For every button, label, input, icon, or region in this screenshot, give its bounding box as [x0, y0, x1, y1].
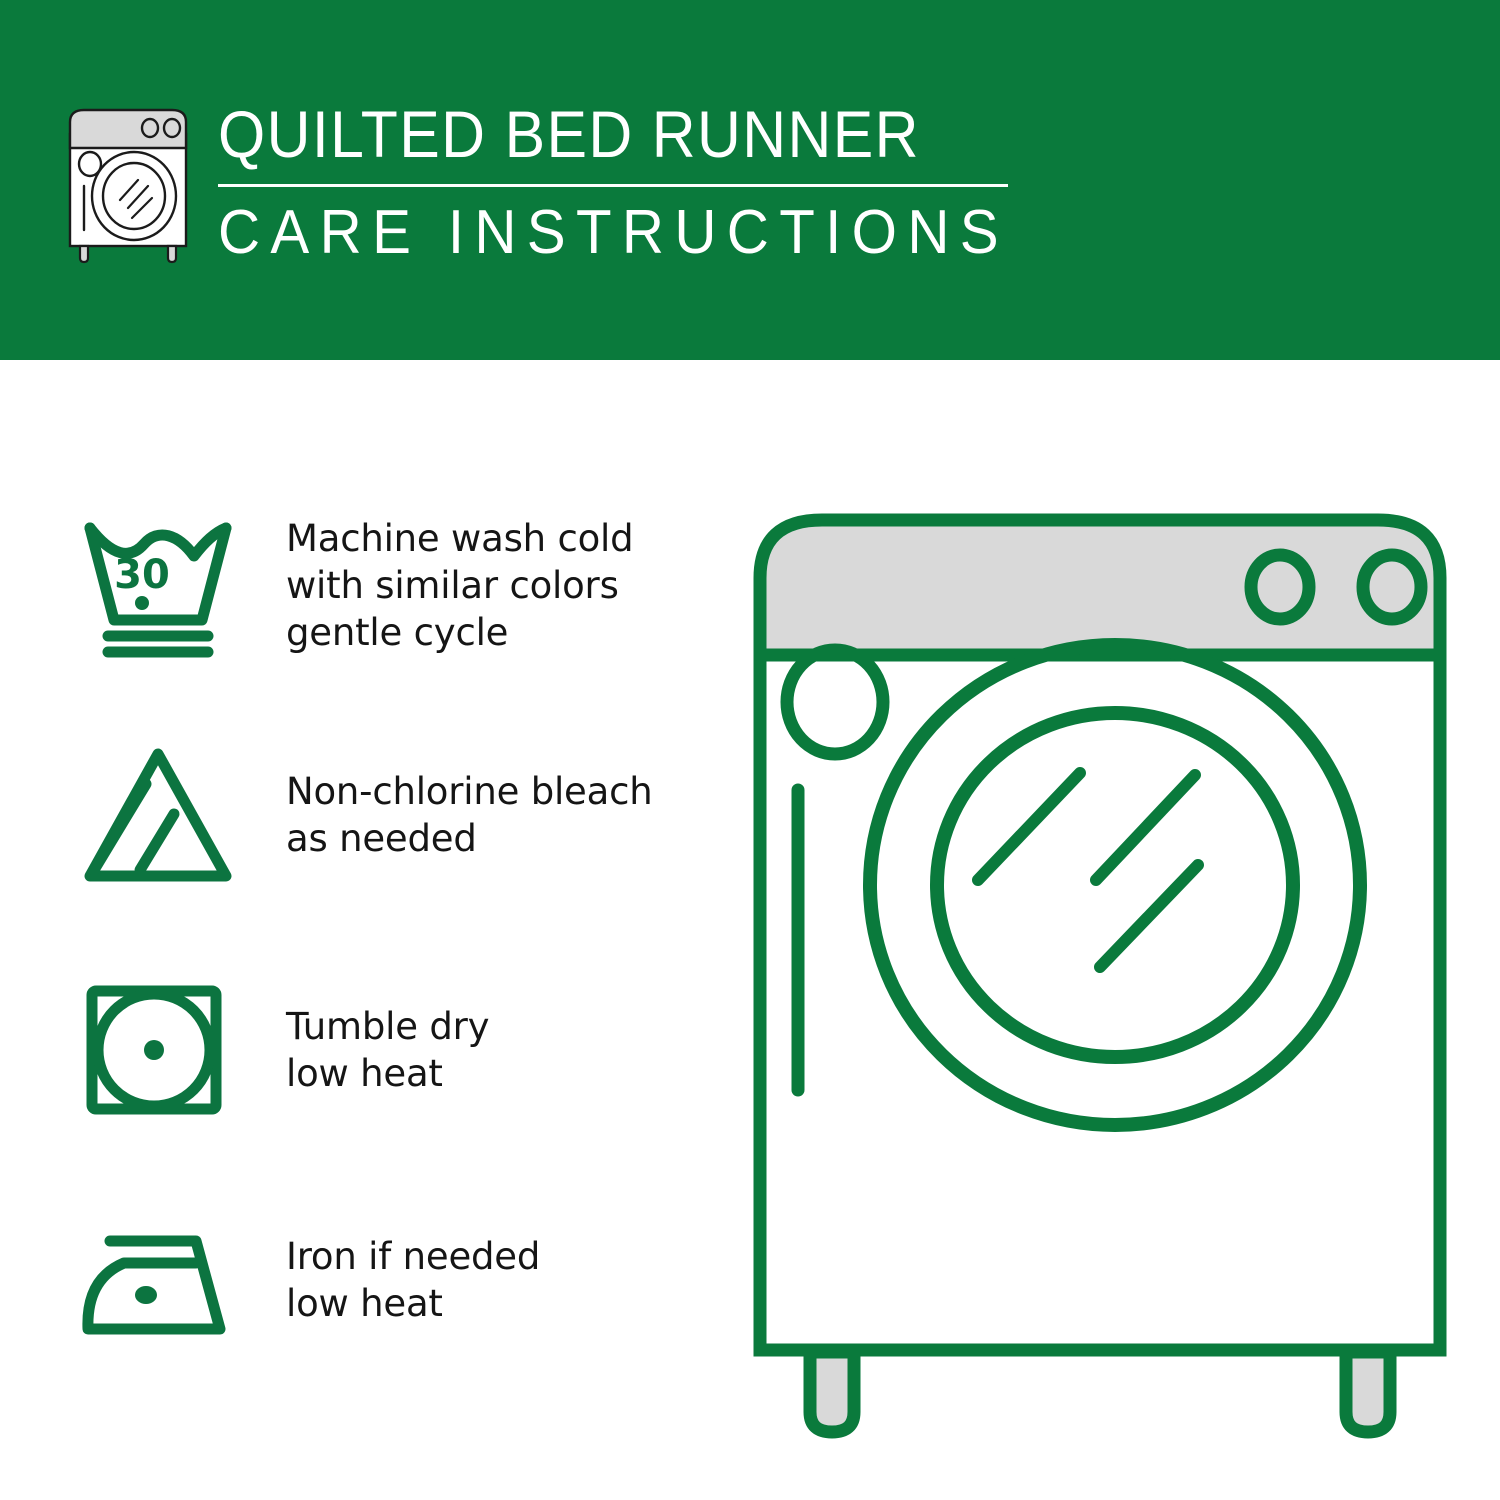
page-title: QUILTED BED RUNNER	[218, 96, 954, 172]
care-row-iron: Iron if needed low heat	[74, 1205, 694, 1355]
header-divider	[218, 184, 1008, 187]
page-subtitle: CARE INSTRUCTIONS	[218, 197, 970, 269]
care-row-tumble-dry: Tumble dry low heat	[74, 975, 694, 1125]
wash-temperature-label: 30	[114, 552, 170, 598]
machine-wash-30-gentle-symbol: 30	[74, 510, 244, 660]
tumble-dry-low-symbol	[74, 975, 244, 1125]
control-panel	[760, 520, 1440, 655]
care-label-bleach: Non-chlorine bleach as needed	[286, 768, 653, 862]
machine-leg	[1346, 1352, 1390, 1432]
care-row-machine-wash: 30 Machine wash cold with similar colors…	[74, 510, 694, 660]
non-chlorine-bleach-symbol	[74, 740, 244, 890]
header-banner: QUILTED BED RUNNER CARE INSTRUCTIONS	[0, 0, 1500, 360]
care-row-bleach: Non-chlorine bleach as needed	[74, 740, 694, 890]
care-label-machine-wash: Machine wash cold with similar colors ge…	[286, 515, 633, 656]
iron-low-heat-symbol	[74, 1205, 244, 1355]
machine-leg	[810, 1352, 854, 1432]
care-label-tumble-dry: Tumble dry low heat	[286, 1003, 489, 1097]
care-instruction-list: 30 Machine wash cold with similar colors…	[0, 360, 700, 1500]
washing-machine-illustration	[740, 480, 1460, 1440]
care-label-iron: Iron if needed low heat	[286, 1233, 540, 1327]
washing-machine-icon	[62, 104, 194, 264]
header-text-block: QUILTED BED RUNNER CARE INSTRUCTIONS	[218, 96, 1018, 269]
